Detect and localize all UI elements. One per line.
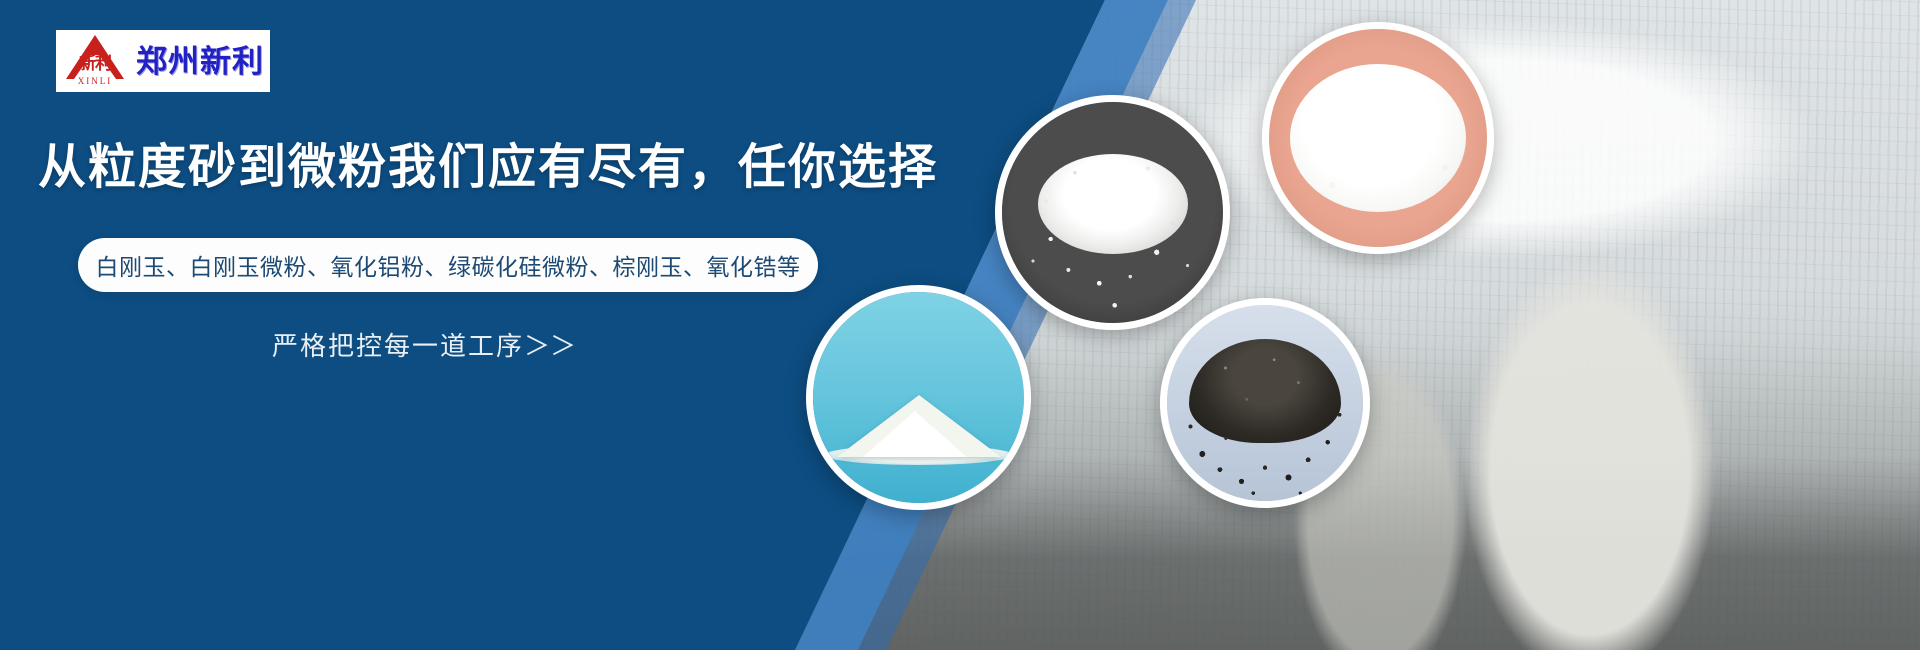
granule-scatter [1167, 305, 1363, 501]
product-photo-white-powder-cone [806, 285, 1031, 510]
tagline[interactable]: 严格把控每一道工序＞＞ [272, 326, 576, 363]
triangle-logo-icon: 新利 XINLI [64, 33, 126, 89]
product-list-pill: 白刚玉、白刚玉微粉、氧化铝粉、绿碳化硅微粉、棕刚玉、氧化锆等 [78, 238, 818, 292]
tagline-arrows: ＞＞ [524, 331, 576, 361]
company-name: 郑州新利 [136, 46, 264, 77]
company-logo[interactable]: 新利 XINLI 郑州新利 [56, 30, 270, 92]
powder-mound [1290, 64, 1466, 212]
grain-specks [1002, 102, 1223, 323]
product-photo-white-fused-alumina [995, 95, 1230, 330]
product-photo-alumina-micropowder [1262, 22, 1494, 254]
product-photo-black-silicon-carbide [1160, 298, 1370, 508]
logo-mark-cn-text: 新利 [67, 55, 123, 72]
promo-banner: 新利 XINLI 郑州新利 从粒度砂到微粉我们应有尽有，任你选择 白刚玉、白刚玉… [0, 0, 1920, 650]
product-list-text: 白刚玉、白刚玉微粉、氧化铝粉、绿碳化硅微粉、棕刚玉、氧化锆等 [96, 248, 801, 282]
tagline-text: 严格把控每一道工序 [272, 331, 524, 361]
powder-cone-highlight [862, 411, 966, 457]
headline: 从粒度砂到微粉我们应有尽有，任你选择 [38, 140, 938, 195]
logo-mark-en-text: XINLI [64, 76, 126, 86]
